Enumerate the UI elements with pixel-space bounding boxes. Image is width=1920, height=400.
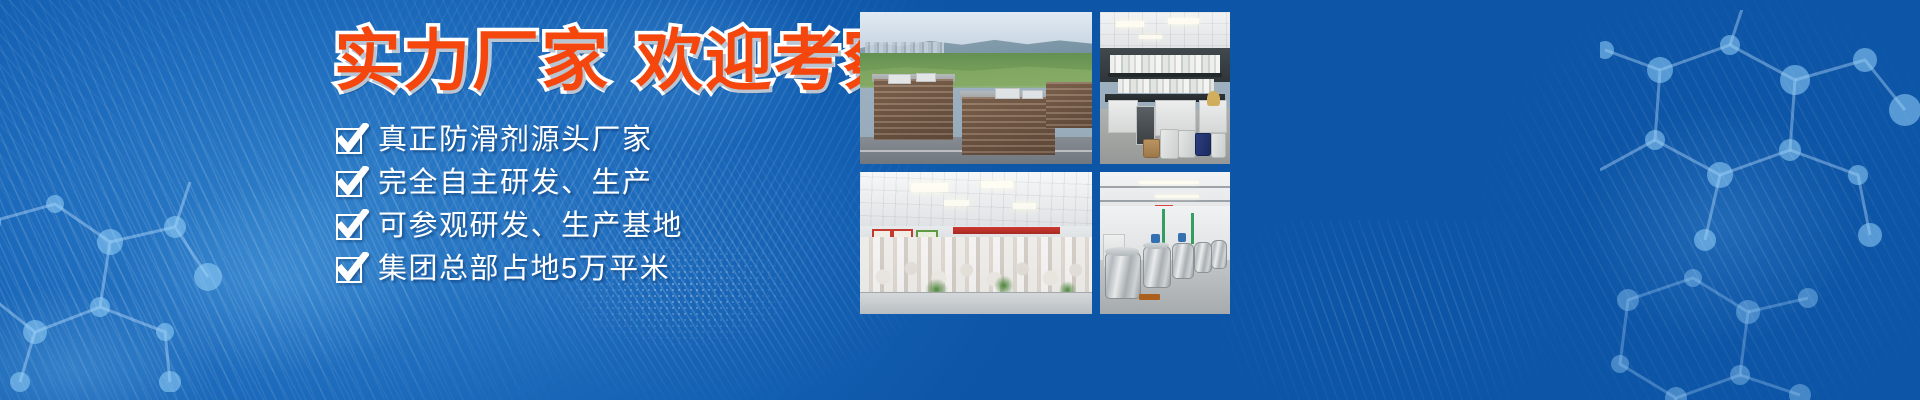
molecule-right-lower-icon xyxy=(1588,250,1828,400)
molecule-right-icon xyxy=(1600,10,1920,270)
page-title: 实力厂家欢迎考察 xyxy=(334,28,912,95)
glow-right xyxy=(1530,60,1910,390)
list-item-label: 可参观研发、生产基地 xyxy=(378,212,683,241)
headline-part-1: 实力厂家 xyxy=(334,24,610,99)
check-box-icon xyxy=(336,257,362,283)
list-item-label: 完全自主研发、生产 xyxy=(378,169,653,198)
feature-list: 真正防滑剂源头厂家 完全自主研发、生产 可参观研发、生产基地 集团总部占地5万平… xyxy=(336,120,683,292)
list-item: 真正防滑剂源头厂家 xyxy=(336,120,683,161)
check-box-icon xyxy=(336,128,362,154)
aerial-campus-photo xyxy=(860,12,1092,164)
check-box-icon xyxy=(336,171,362,197)
text-content: 实力厂家欢迎考察 真正防滑剂源头厂家 完全自主研发、生产 可参观研发、生产基地 xyxy=(0,0,852,400)
production-equipment-photo xyxy=(1100,172,1230,314)
wave-stripes-bottom-right xyxy=(1170,220,1590,400)
list-item: 完全自主研发、生产 xyxy=(336,163,683,204)
wave-stripes-right xyxy=(1420,0,1920,400)
list-item: 可参观研发、生产基地 xyxy=(336,206,683,247)
list-item-label: 集团总部占地5万平米 xyxy=(378,255,670,284)
promo-banner: 实力厂家欢迎考察 真正防滑剂源头厂家 完全自主研发、生产 可参观研发、生产基地 xyxy=(0,0,1920,400)
list-item-label: 真正防滑剂源头厂家 xyxy=(378,126,653,155)
staff-office-photo xyxy=(860,172,1092,314)
list-item: 集团总部占地5万平米 xyxy=(336,249,683,290)
photo-gallery xyxy=(860,12,1230,390)
check-box-icon xyxy=(336,214,362,240)
laboratory-photo xyxy=(1100,12,1230,164)
